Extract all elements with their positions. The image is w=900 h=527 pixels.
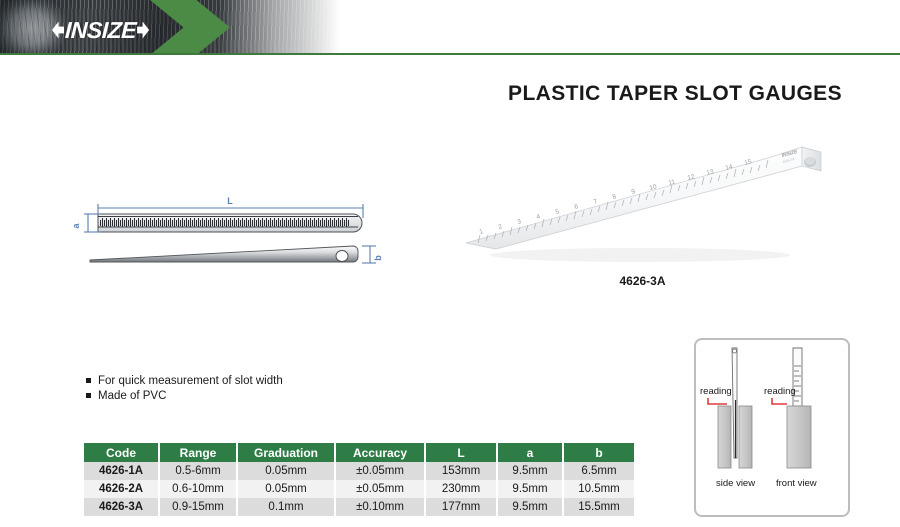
page-title: PLASTIC TAPER SLOT GAUGES: [508, 82, 842, 106]
feature-item: For quick measurement of slot width: [86, 374, 416, 389]
gauge-side-profile: [90, 246, 358, 262]
logo-text: INSIZE: [64, 19, 136, 42]
bullet-square-icon: [86, 393, 91, 398]
gauge-top-view: [98, 214, 362, 232]
dimension-label-a: a: [71, 223, 81, 229]
table-row: 4626-3A 0.9-15mm 0.1mm ±0.10mm 177mm 9.5…: [84, 498, 634, 516]
usage-diagram-box: reading side view reading: [694, 338, 850, 517]
cell-graduation: 0.05mm: [237, 462, 335, 480]
cell-a: 9.5mm: [497, 462, 563, 480]
feature-list: For quick measurement of slot width Made…: [86, 374, 416, 404]
cell-a: 9.5mm: [497, 480, 563, 498]
insize-logo: INSIZE: [52, 17, 149, 43]
cell-range: 0.6-10mm: [159, 480, 237, 498]
cell-range: 0.9-15mm: [159, 498, 237, 516]
table-row: 4626-2A 0.6-10mm 0.05mm ±0.05mm 230mm 9.…: [84, 480, 634, 498]
side-view-workpiece-right: [739, 406, 752, 468]
usage-diagram-svg: reading side view reading: [696, 340, 844, 511]
cell-code: 4626-1A: [84, 462, 159, 480]
cell-accuracy: ±0.05mm: [335, 480, 425, 498]
header-green-rule: [0, 53, 900, 55]
cell-graduation: 0.1mm: [237, 498, 335, 516]
technical-drawing: L a b: [70, 190, 400, 285]
specifications-table: Code Range Graduation Accuracy L a b 462…: [84, 443, 634, 516]
front-view-group: reading front view: [764, 348, 817, 489]
front-view-workpiece: [787, 406, 811, 468]
side-view-workpiece-left: [718, 406, 731, 468]
side-view-hole: [733, 349, 737, 353]
page-header: INSIZE: [0, 0, 900, 55]
svg-text:2: 2: [498, 223, 504, 231]
cell-l: 230mm: [425, 480, 497, 498]
photo-fade-edge: [220, 0, 340, 55]
front-view-label: front view: [776, 478, 817, 489]
cell-b: 10.5mm: [563, 480, 634, 498]
cell-l: 177mm: [425, 498, 497, 516]
arrow-left-icon: [52, 22, 64, 39]
svg-text:7: 7: [593, 198, 599, 206]
product-shadow: [490, 248, 790, 262]
cell-b: 6.5mm: [563, 462, 634, 480]
column-header-accuracy: Accuracy: [335, 443, 425, 462]
dimension-label-b: b: [373, 255, 383, 261]
side-view-label: side view: [716, 478, 755, 489]
cell-b: 15.5mm: [563, 498, 634, 516]
svg-text:9: 9: [631, 188, 637, 196]
cell-accuracy: ±0.10mm: [335, 498, 425, 516]
dimension-label-L: L: [227, 196, 233, 206]
svg-text:8: 8: [612, 193, 618, 201]
front-view-reading-label: reading: [764, 386, 796, 397]
side-view-group: reading side view: [700, 348, 755, 489]
product-photo: 1 2 3 4 5 6 7 8 9 10 11 12 13 14 15 INSI…: [450, 135, 830, 275]
column-header-l: L: [425, 443, 497, 462]
table-row: 4626-1A 0.5-6mm 0.05mm ±0.05mm 153mm 9.5…: [84, 462, 634, 480]
svg-text:1: 1: [479, 228, 485, 236]
column-header-b: b: [563, 443, 634, 462]
svg-text:4: 4: [536, 213, 542, 221]
gauge-scale-numbers: 1 2 3 4 5 6 7 8 9 10 11 12 13 14 15: [479, 158, 753, 236]
cell-graduation: 0.05mm: [237, 480, 335, 498]
column-header-code: Code: [84, 443, 159, 462]
side-view-reading-leader: [708, 398, 727, 404]
svg-text:6: 6: [574, 203, 580, 211]
arrow-right-icon: [137, 22, 149, 39]
cell-code: 4626-3A: [84, 498, 159, 516]
cell-l: 153mm: [425, 462, 497, 480]
bullet-square-icon: [86, 378, 91, 383]
cell-a: 9.5mm: [497, 498, 563, 516]
technical-drawing-svg: L a b: [70, 190, 400, 285]
feature-text: For quick measurement of slot width: [98, 374, 283, 389]
feature-text: Made of PVC: [98, 389, 166, 404]
cell-range: 0.5-6mm: [159, 462, 237, 480]
front-view-reading-leader: [772, 398, 787, 404]
side-view-reading-label: reading: [700, 386, 732, 397]
cell-accuracy: ±0.05mm: [335, 462, 425, 480]
feature-item: Made of PVC: [86, 389, 416, 404]
svg-text:3: 3: [517, 218, 523, 226]
side-view-gauge: [732, 348, 737, 458]
column-header-a: a: [497, 443, 563, 462]
dimension-line-height-a: a: [71, 214, 100, 232]
product-photo-svg: 1 2 3 4 5 6 7 8 9 10 11 12 13 14 15 INSI…: [450, 135, 830, 275]
column-header-range: Range: [159, 443, 237, 462]
product-caption: 4626-3A: [560, 274, 725, 288]
dimension-line-width-b: b: [362, 246, 383, 263]
svg-text:5: 5: [555, 208, 561, 216]
cell-code: 4626-2A: [84, 480, 159, 498]
column-header-graduation: Graduation: [237, 443, 335, 462]
table-header-row: Code Range Graduation Accuracy L a b: [84, 443, 634, 462]
